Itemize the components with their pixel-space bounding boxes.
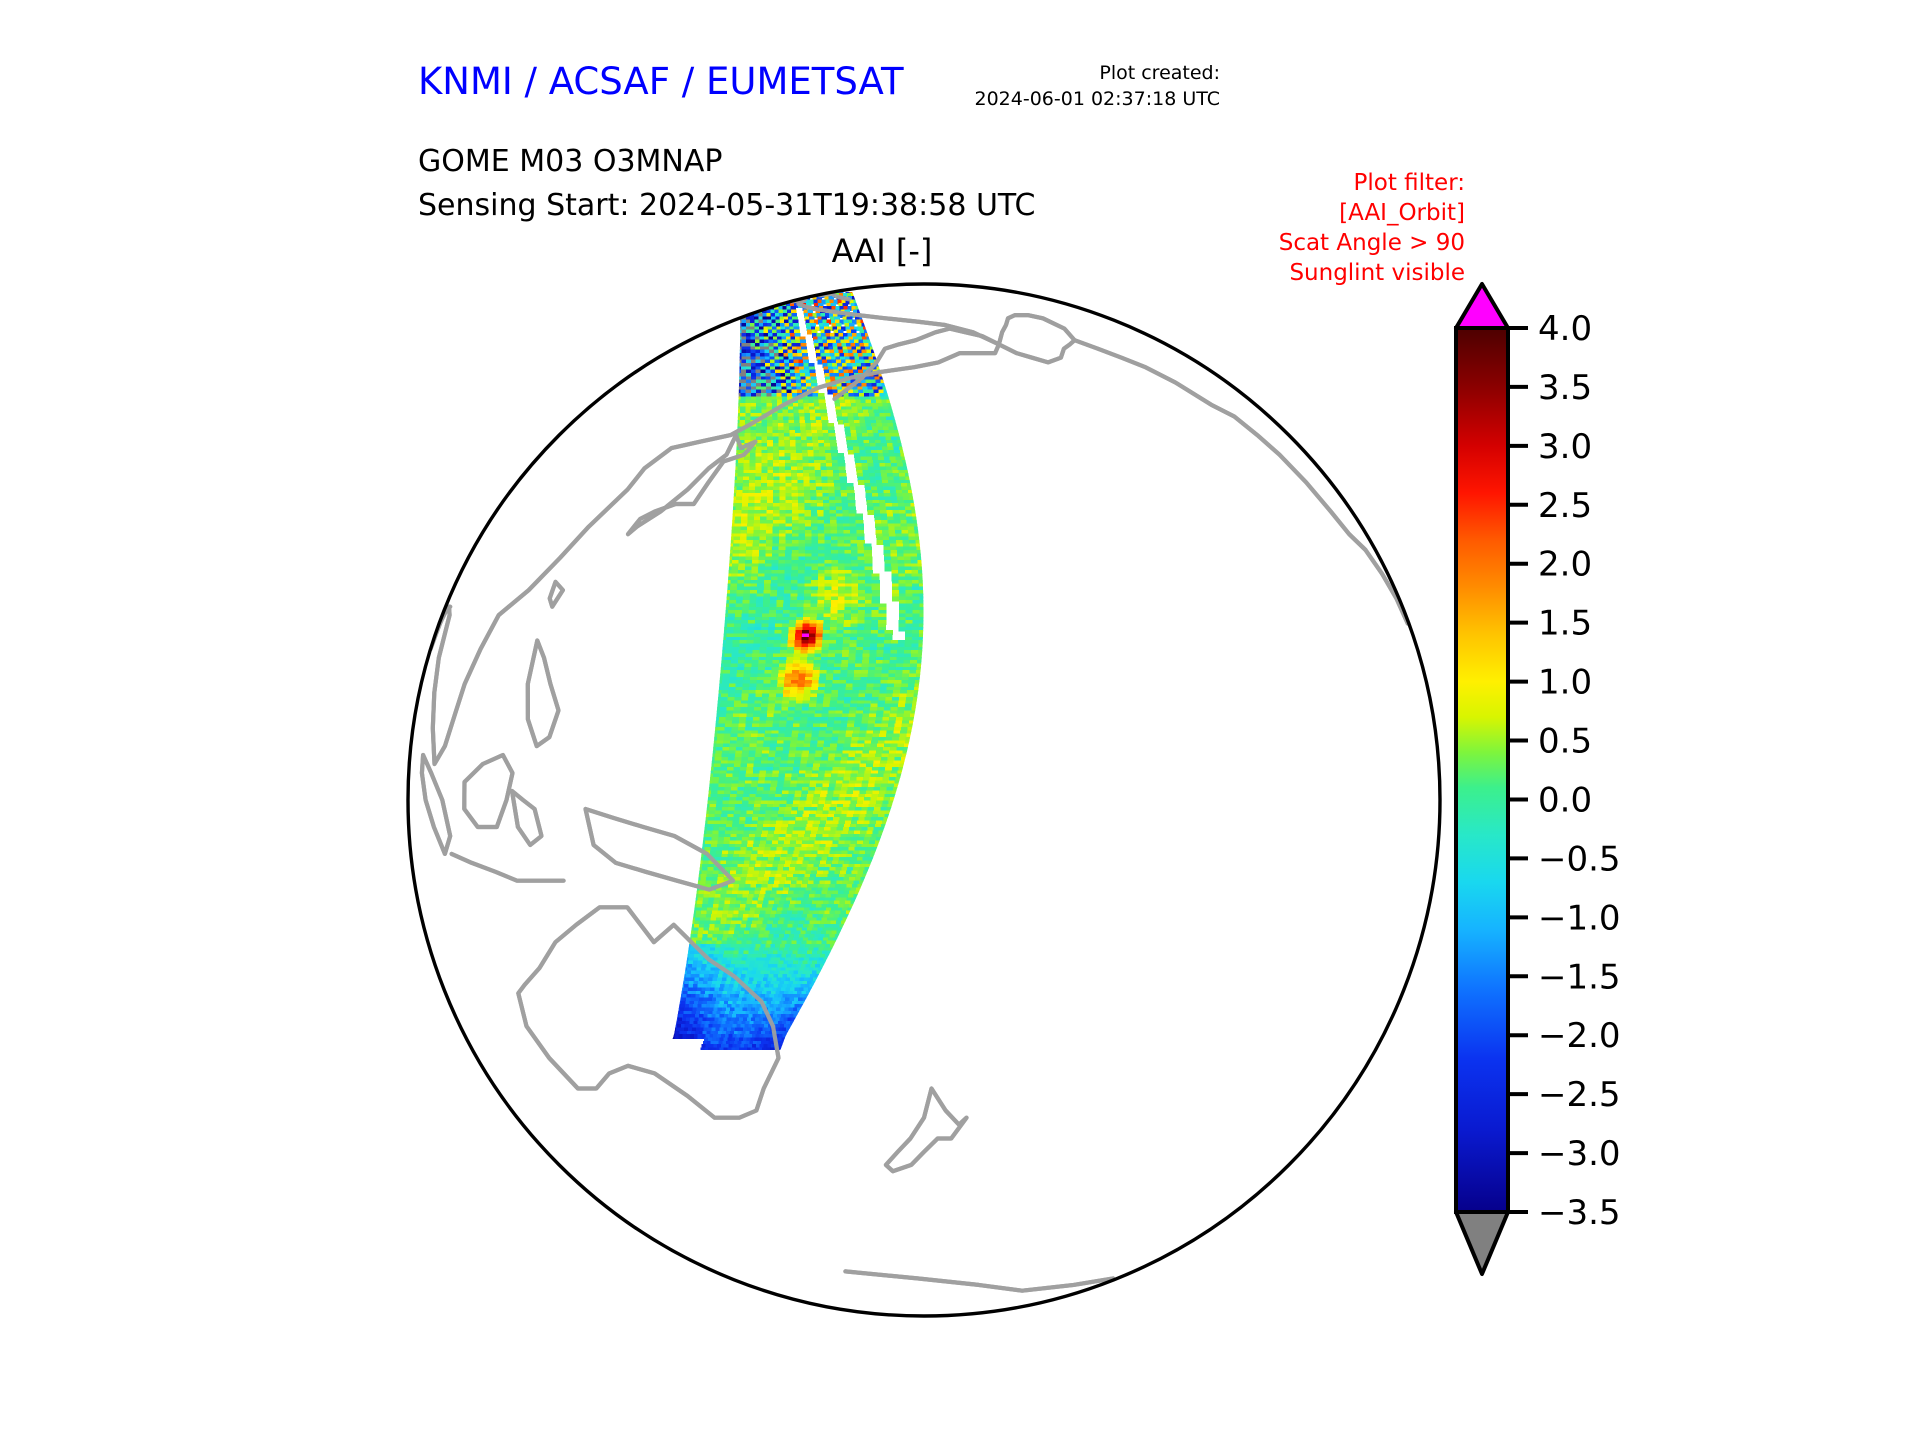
swath-pixel xyxy=(788,293,793,298)
swath-pixel xyxy=(799,290,804,295)
plot-created-label: Plot created: xyxy=(975,60,1221,86)
swath-pixel xyxy=(773,293,778,298)
swath-pixel xyxy=(738,296,743,301)
product-metadata-block: GOME M03 O3MNAP Sensing Start: 2024-05-3… xyxy=(418,140,1035,228)
swath-pixel xyxy=(761,293,766,298)
plot-filter-block: Plot filter: [AAI_Orbit] Scat Angle > 90… xyxy=(1279,168,1465,288)
swath-pixel xyxy=(753,290,758,295)
swath-pixel xyxy=(750,303,756,308)
swath-pixel xyxy=(745,290,750,295)
swath-pixel xyxy=(765,290,770,295)
swath-pixel xyxy=(750,300,756,305)
swath-pixel xyxy=(762,300,768,305)
plot-filter-scatangle: Scat Angle > 90 xyxy=(1279,228,1465,258)
swath-pixel xyxy=(781,293,786,298)
swath-pixel xyxy=(765,296,770,301)
globe-disc xyxy=(408,284,1440,1316)
swath-pixel xyxy=(742,300,748,305)
swath-pixel xyxy=(784,293,789,298)
swath-pixel xyxy=(803,290,808,295)
swath-pixel xyxy=(753,293,758,298)
swath-pixel xyxy=(811,290,816,295)
swath-pixel xyxy=(738,303,744,308)
variable-title: AAI [-] xyxy=(0,232,1920,270)
swath-pixel xyxy=(742,296,747,301)
swath-pixel xyxy=(781,296,786,301)
swath-pixel xyxy=(761,290,766,295)
swath-pixel xyxy=(766,300,772,305)
swath-pixel xyxy=(738,300,744,305)
swath-pixel xyxy=(758,300,764,305)
swath-pixel xyxy=(742,306,748,311)
swath-pixel xyxy=(770,300,776,305)
swath-pixel xyxy=(777,293,782,298)
swath-pixel xyxy=(777,296,782,301)
swath-pixel xyxy=(773,296,778,301)
swath-pixel xyxy=(754,303,760,308)
swath-pixel xyxy=(753,296,758,301)
swath-pixel xyxy=(742,293,747,298)
swath-pixel xyxy=(758,303,764,308)
swath-pixel xyxy=(742,303,748,308)
swath-pixel xyxy=(746,306,752,311)
variable-title-text: AAI [-] xyxy=(832,232,933,270)
swath-pixel xyxy=(796,290,801,295)
swath-pixel xyxy=(757,296,762,301)
swath-pixel xyxy=(738,290,743,295)
swath-pixel xyxy=(749,296,754,301)
swath-pixel xyxy=(746,303,752,308)
swath-pixel xyxy=(769,290,774,295)
swath-pixel xyxy=(765,293,770,298)
plot-filter-dataset: [AAI_Orbit] xyxy=(1279,198,1465,228)
swath-pixel xyxy=(769,293,774,298)
swath-pixel xyxy=(746,300,752,305)
swath-pixel xyxy=(757,293,762,298)
swath-pixel xyxy=(754,300,760,305)
swath-pixel xyxy=(738,310,744,315)
swath-pixel xyxy=(796,293,801,298)
swath-pixel xyxy=(745,293,750,298)
swath-pixel xyxy=(788,290,793,295)
organisation-title: KNMI / ACSAF / EUMETSAT xyxy=(418,60,904,103)
swath-pixel xyxy=(792,293,797,298)
swath-pixel xyxy=(749,290,754,295)
swath-pixel xyxy=(738,293,743,298)
swath-pixel xyxy=(761,296,766,301)
swath-pixel xyxy=(772,290,777,295)
sensing-start: Sensing Start: 2024-05-31T19:38:58 UTC xyxy=(418,184,1035,228)
swath-pixel xyxy=(769,296,774,301)
plot-created-timestamp: 2024-06-01 02:37:18 UTC xyxy=(975,86,1221,112)
swath-pixel xyxy=(746,296,751,301)
swath-pixel xyxy=(776,290,781,295)
swath-pixel xyxy=(780,290,785,295)
globe-map[interactable] xyxy=(404,280,1444,1320)
swath-pixel xyxy=(741,290,746,295)
swath-pixel xyxy=(757,290,762,295)
swath-pixel xyxy=(738,306,744,311)
swath-pixel xyxy=(792,290,797,295)
swath-pixel xyxy=(749,293,754,298)
plot-filter-label: Plot filter: xyxy=(1279,168,1465,198)
swath-pixel xyxy=(784,290,789,295)
swath-pixel xyxy=(750,306,756,311)
product-name: GOME M03 O3MNAP xyxy=(418,140,1035,184)
plot-created-block: Plot created: 2024-06-01 02:37:18 UTC xyxy=(975,60,1221,112)
